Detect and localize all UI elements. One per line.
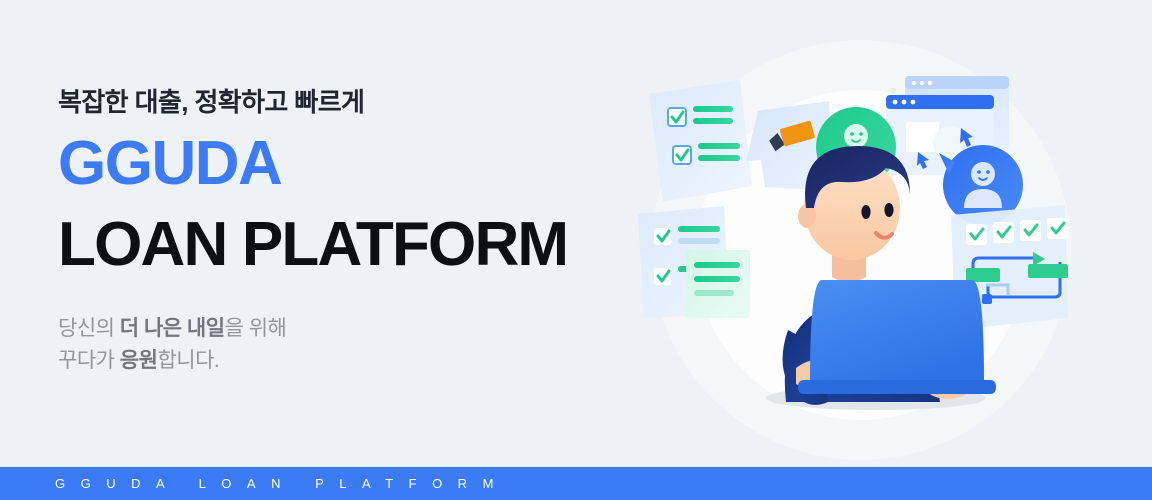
tagline-2-post: 합니다. (157, 349, 219, 372)
laptop (798, 280, 996, 394)
hero-tagline-line-1: 당신의 더 나은 내일을 위해 (58, 313, 618, 346)
hero-illustration (618, 0, 1152, 467)
bottom-ticker-bar: GGUDA LOAN PLATFORM (0, 467, 1152, 500)
checklist-card-top-left (649, 80, 752, 202)
tagline-2-pre: 꾸다가 (58, 349, 120, 372)
hero-product-title: LOAN PLATFORM (58, 212, 618, 277)
hero-eyebrow: 복잡한 대출, 정확하고 빠르게 (58, 86, 618, 119)
tagline-1-post: 을 위해 (225, 317, 287, 340)
hero-banner: 복잡한 대출, 정확하고 빠르게 GGUDA LOAN PLATFORM 당신의… (0, 0, 1152, 500)
hero-tagline: 당신의 더 나은 내일을 위해 꾸다가 응원합니다. (58, 313, 618, 378)
mint-note-card (686, 250, 750, 318)
hero-copy-block: 복잡한 대출, 정확하고 빠르게 GGUDA LOAN PLATFORM 당신의… (58, 86, 618, 378)
tagline-1-pre: 당신의 (58, 317, 120, 340)
ticker-text: GGUDA LOAN PLATFORM (0, 476, 509, 491)
tagline-1-strong: 더 나은 내일 (120, 317, 225, 340)
tagline-2-strong: 응원 (120, 349, 158, 372)
hero-brand-title: GGUDA (58, 131, 618, 196)
hero-tagline-line-2: 꾸다가 응원합니다. (58, 345, 618, 378)
